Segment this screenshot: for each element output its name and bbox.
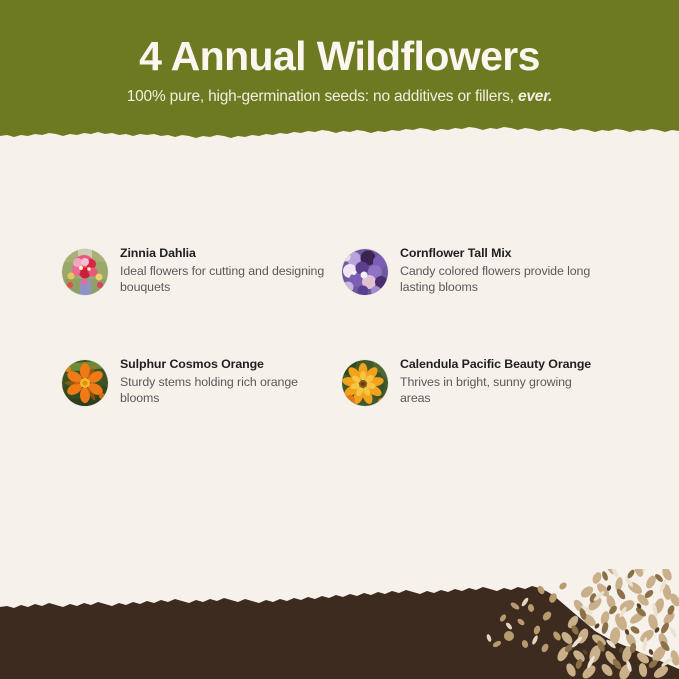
feature-section: Zinnia Dahlia Ideal flowers for cutting … bbox=[0, 152, 679, 582]
feature-name: Zinnia Dahlia bbox=[120, 246, 325, 262]
feature-text-block: Calendula Pacific Beauty Orange Thrives … bbox=[388, 357, 605, 407]
feature-description: Thrives in bright, sunny growing areas bbox=[400, 373, 605, 407]
feature-description: Ideal flowers for cutting and designing … bbox=[120, 262, 325, 296]
calendula-pacific-beauty-orange-photo-icon bbox=[342, 360, 388, 406]
feature-text-block: Zinnia Dahlia Ideal flowers for cutting … bbox=[108, 246, 325, 296]
feature-grid: Zinnia Dahlia Ideal flowers for cutting … bbox=[62, 246, 622, 406]
feature-row: Zinnia Dahlia Ideal flowers for cutting … bbox=[62, 246, 622, 296]
footer-soil-band bbox=[0, 569, 679, 679]
feature-item-zinnia-dahlia: Zinnia Dahlia Ideal flowers for cutting … bbox=[62, 246, 342, 296]
header-text-block: 4 Annual Wildflowers 100% pure, high-ger… bbox=[0, 0, 679, 107]
feature-text-block: Sulphur Cosmos Orange Sturdy stems holdi… bbox=[108, 357, 325, 407]
subtitle-emphasis-text: ever. bbox=[518, 88, 552, 105]
header-torn-edge-icon bbox=[0, 122, 679, 152]
footer-torn-edge-icon bbox=[0, 569, 679, 679]
feature-item-cornflower-tall-mix: Cornflower Tall Mix Candy colored flower… bbox=[342, 246, 622, 296]
feature-name: Sulphur Cosmos Orange bbox=[120, 357, 325, 373]
page-title: 4 Annual Wildflowers bbox=[0, 0, 679, 78]
feature-row: Sulphur Cosmos Orange Sturdy stems holdi… bbox=[62, 357, 622, 407]
feature-name: Cornflower Tall Mix bbox=[400, 246, 605, 262]
feature-item-calendula-pacific-beauty-orange: Calendula Pacific Beauty Orange Thrives … bbox=[342, 357, 622, 407]
feature-item-sulphur-cosmos-orange: Sulphur Cosmos Orange Sturdy stems holdi… bbox=[62, 357, 342, 407]
header-banner: 4 Annual Wildflowers 100% pure, high-ger… bbox=[0, 0, 679, 152]
page-subtitle: 100% pure, high-germination seeds: no ad… bbox=[0, 78, 679, 107]
feature-description: Sturdy stems holding rich orange blooms bbox=[120, 373, 325, 407]
feature-description: Candy colored flowers provide long lasti… bbox=[400, 262, 605, 296]
wildflower-seed-infographic: 4 Annual Wildflowers 100% pure, high-ger… bbox=[0, 0, 679, 679]
subtitle-main-text: 100% pure, high-germination seeds: no ad… bbox=[127, 88, 514, 105]
sulphur-cosmos-orange-photo-icon bbox=[62, 360, 108, 406]
feature-name: Calendula Pacific Beauty Orange bbox=[400, 357, 605, 373]
zinnia-dahlia-photo-icon bbox=[62, 249, 108, 295]
feature-text-block: Cornflower Tall Mix Candy colored flower… bbox=[388, 246, 605, 296]
cornflower-tall-mix-photo-icon bbox=[342, 249, 388, 295]
